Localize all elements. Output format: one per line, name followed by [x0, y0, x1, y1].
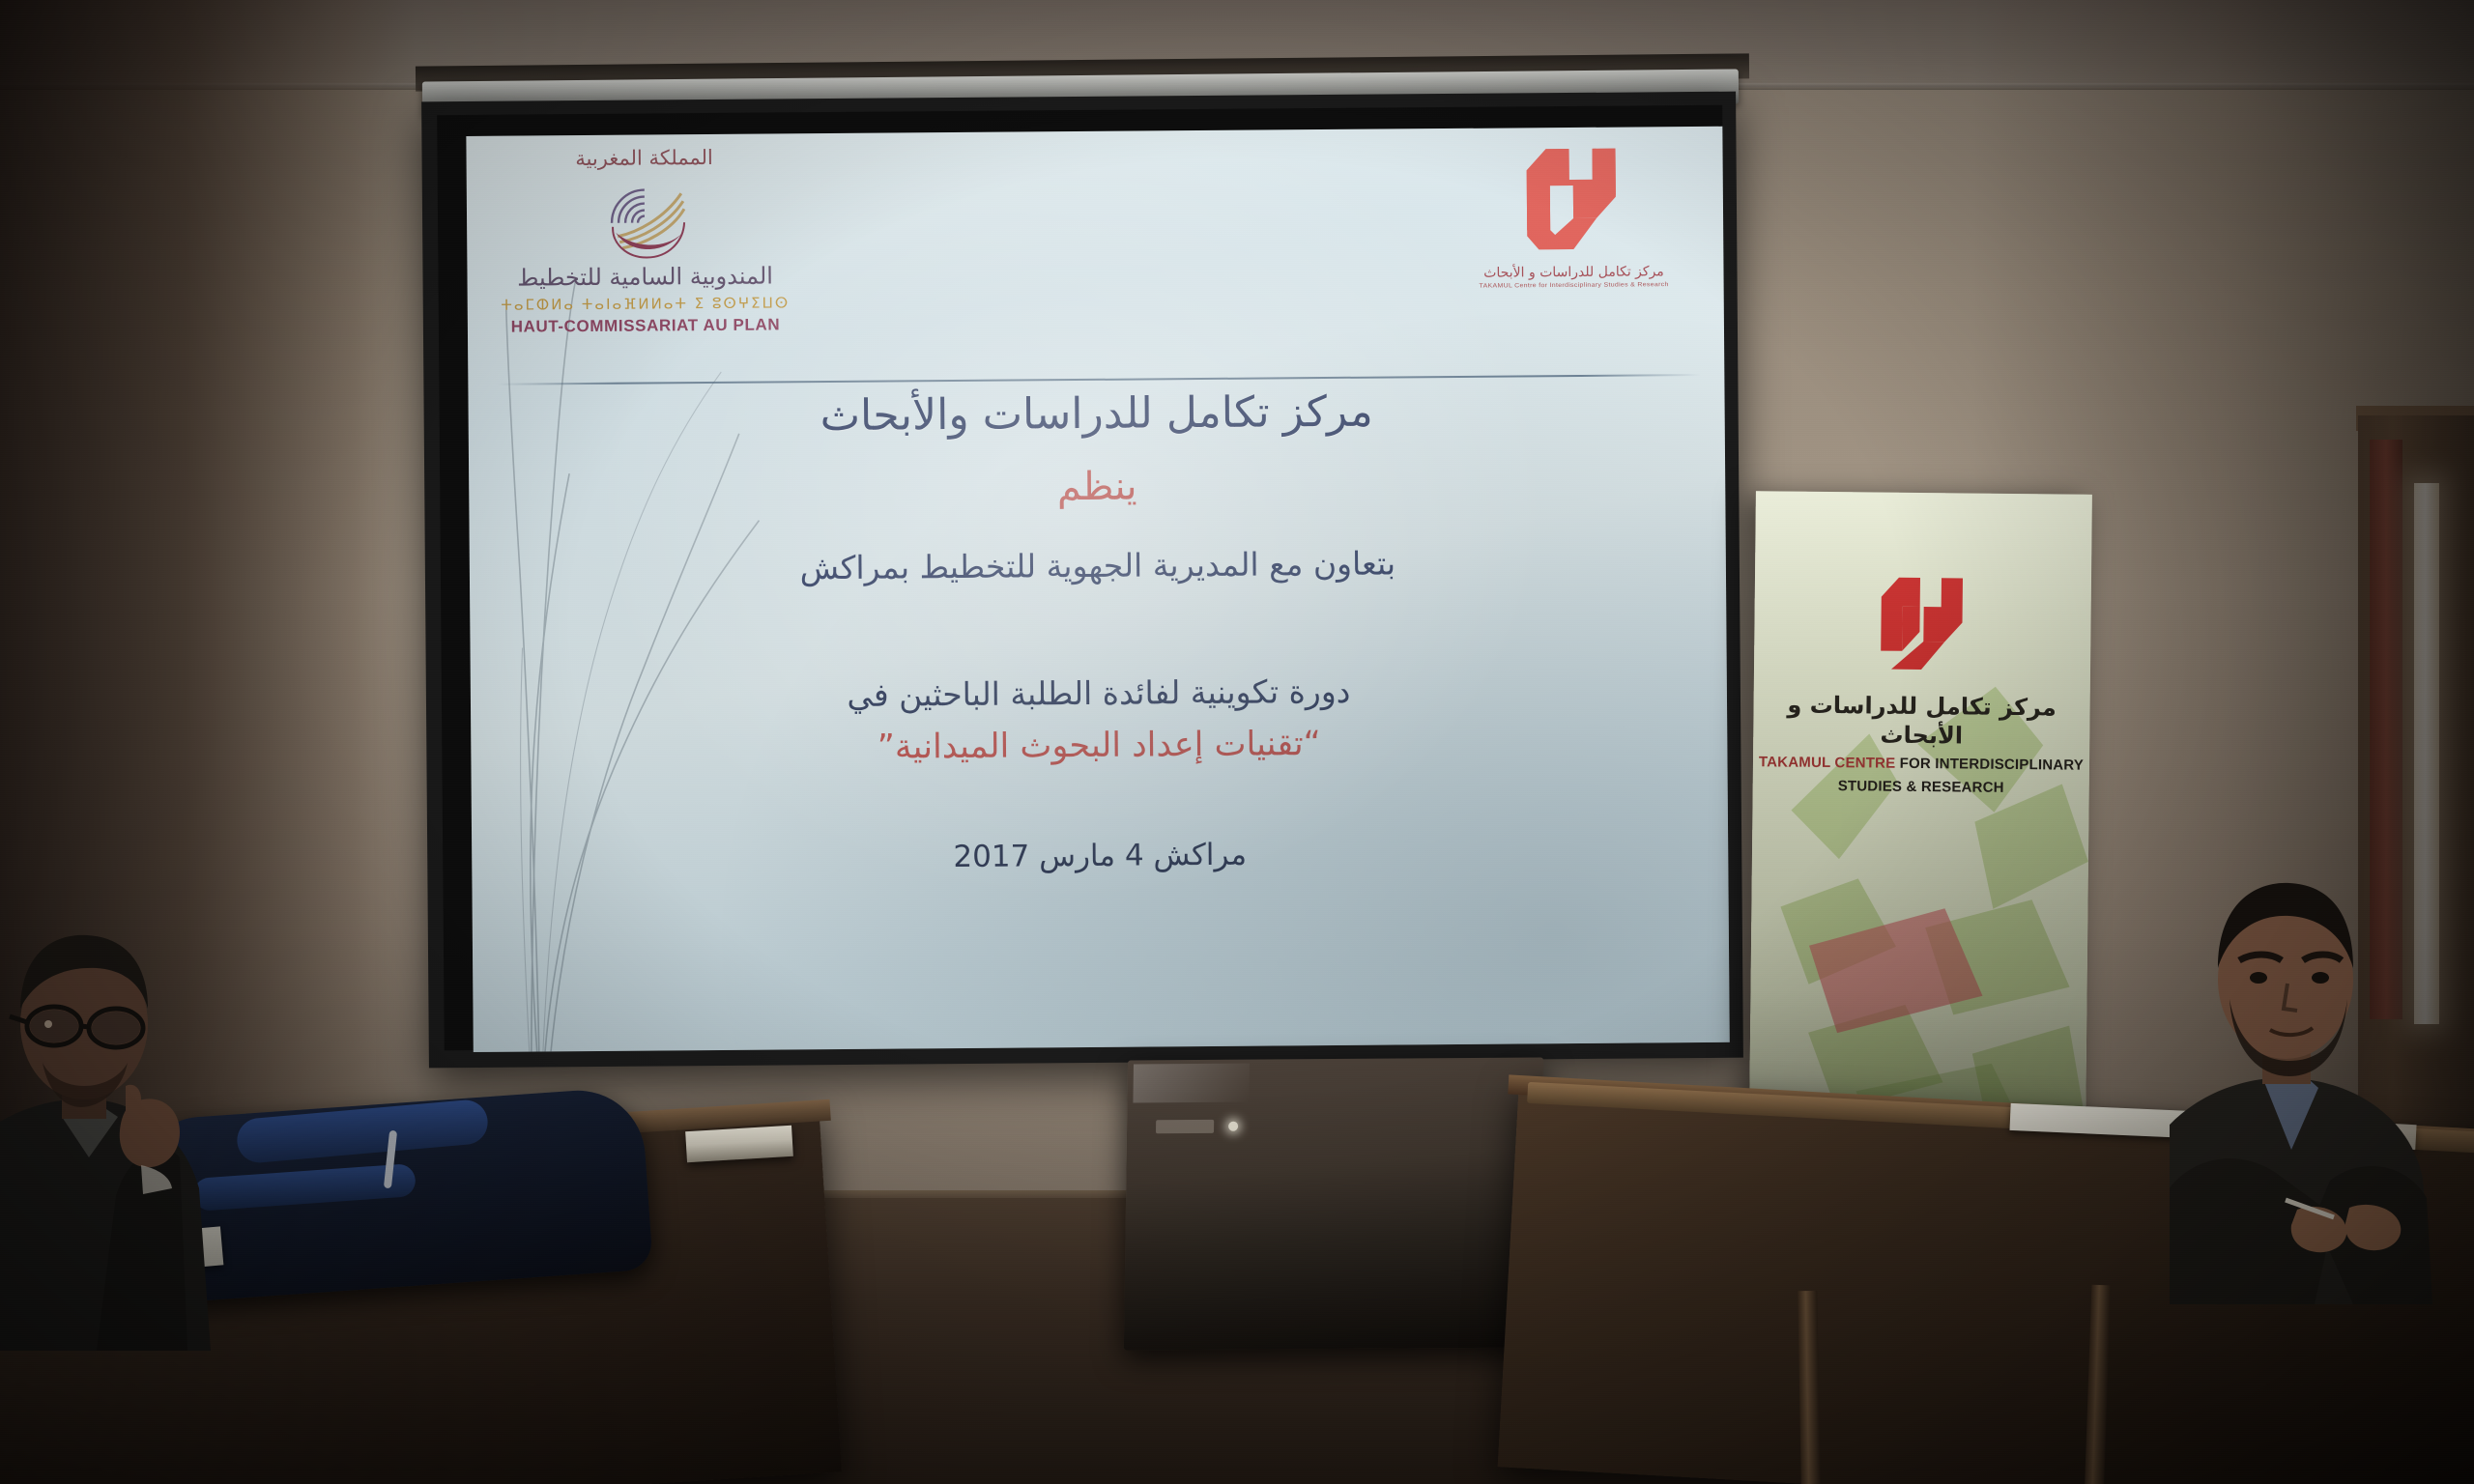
slide-line-theme: “تقنيات إعداد البحوث الميدانية”: [471, 722, 1727, 770]
hcp-kingdom-label: المملكة المغربية: [499, 147, 789, 169]
screen-border: المملكة المغربية: [437, 105, 1730, 1050]
projection-screen: المملكة المغربية: [421, 92, 1743, 1069]
slide-line-course: دورة تكوينية لفائدة الطلبة الباحثين في: [471, 669, 1727, 720]
slide-line-organizer: مركز تكامل للدراسات والأبحاث: [468, 385, 1724, 444]
person-left-attendee: [0, 810, 300, 1351]
banner-name-en-line1: TAKAMUL CENTRE FOR INTERDISCIPLINARY: [1753, 754, 2089, 774]
hcp-emblem-icon: [592, 172, 698, 262]
slide-body: مركز تكامل للدراسات والأبحاث ينظم بتعاون…: [468, 385, 1728, 879]
presentation-slide: المملكة المغربية: [466, 127, 1729, 1052]
banner-name-en-line2: STUDIES & RESEARCH: [1753, 777, 2089, 797]
takamul-name-en-slide: TAKAMUL Centre for Interdisciplinary Stu…: [1463, 281, 1685, 289]
scene-photo: المملكة المغربية: [0, 0, 2474, 1484]
table-leg-b: [1798, 1291, 1820, 1484]
hcp-institution-ar: المندوبية السامية للتخطيط: [500, 262, 790, 291]
slide-line-date: مراكش 4 مارس 2017: [472, 834, 1728, 878]
slide-line-cooperation: بتعاون مع المديرية الجهوية للتخطيط بمراك…: [470, 540, 1726, 591]
hcp-logo-block: المملكة المغربية: [499, 147, 791, 336]
cabinet-glare: [1133, 1064, 1250, 1103]
equipment-cabinet: [1124, 1058, 1543, 1351]
banner-takamul-zigzag-icon: [1865, 567, 1980, 680]
slide-line-verb: ينظم: [469, 459, 1725, 513]
takamul-name-ar-slide: مركز تكامل للدراسات و الأبحاث: [1462, 264, 1684, 281]
cabinet-label: [1156, 1120, 1214, 1133]
cabinet-led-indicator: [1228, 1122, 1238, 1131]
banner-name-en-rest: FOR INTERDISCIPLINARY: [1895, 756, 2084, 774]
notebook-on-table: [685, 1126, 793, 1162]
hcp-institution-fr: HAUT-COMMISSARIAT AU PLAN: [501, 315, 791, 336]
banner-name-ar: مركز تكامل للدراسات و الأبحاث: [1753, 690, 2090, 752]
takamul-zigzag-icon: [1509, 136, 1637, 261]
takamul-logo-block-slide: مركز تكامل للدراسات و الأبحاث TAKAMUL Ce…: [1461, 136, 1684, 290]
person-right-attendee: [2170, 763, 2474, 1304]
banner-name-en-red: TAKAMUL CENTRE: [1759, 754, 1896, 771]
slide-header: المملكة المغربية: [466, 127, 1724, 385]
hcp-institution-tifinagh: ⵜⴰⵎⵀⵍⴰ ⵜⴰⵏⴰⴼⵍⵍⴰⵜ ⵉ ⵓⵙⵖⵉⵡⵙ: [501, 294, 791, 313]
